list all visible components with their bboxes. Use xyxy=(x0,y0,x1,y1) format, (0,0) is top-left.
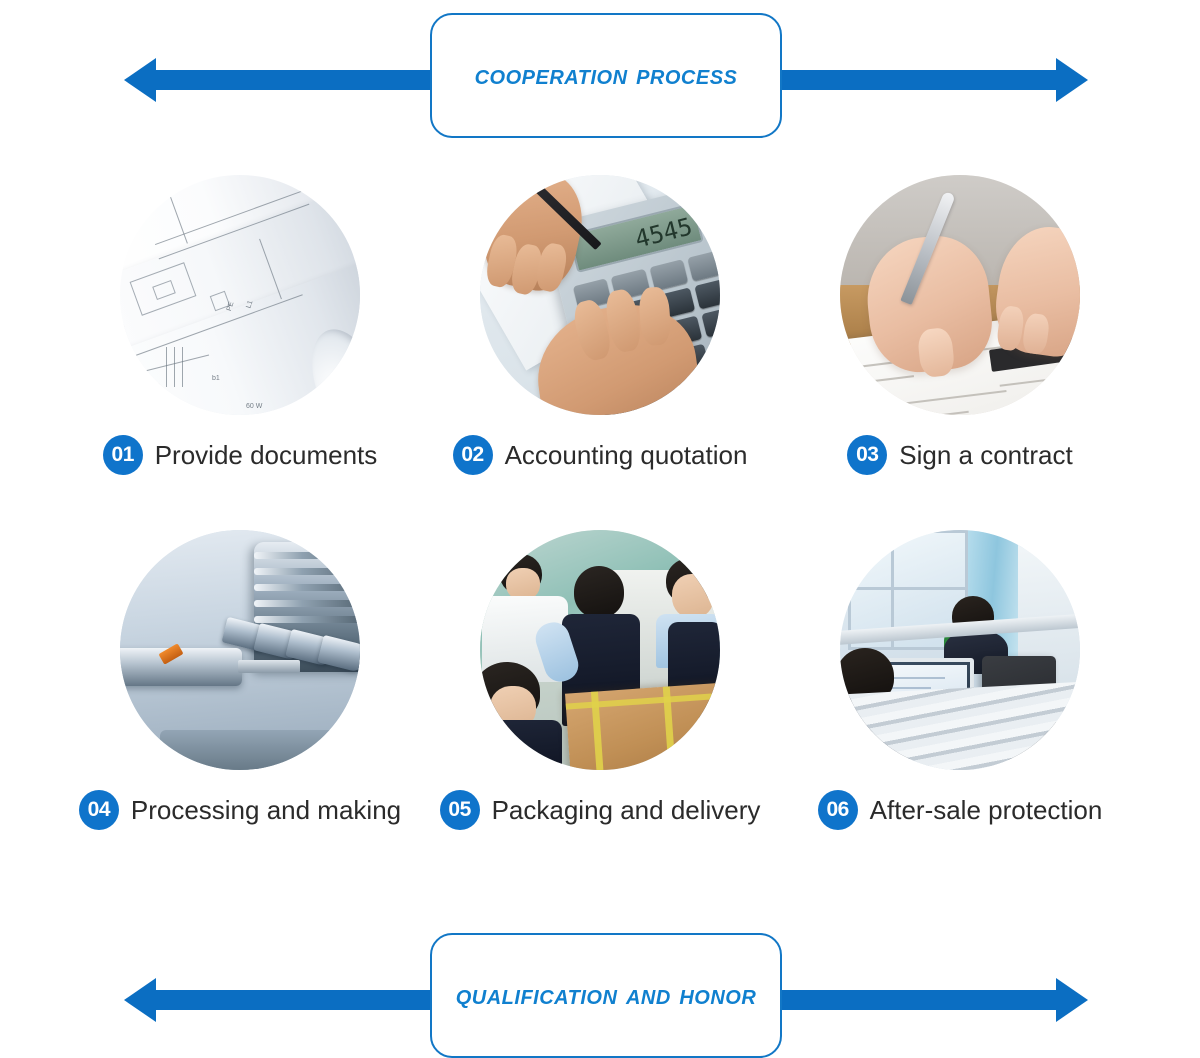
step-badge-01: 01 xyxy=(103,435,143,475)
step-badge-03: 03 xyxy=(847,435,887,475)
step-caption-05: 05 Packaging and delivery xyxy=(400,786,800,834)
banner-title-box-top: Cooperation process xyxy=(430,13,782,138)
step-caption-01: 01 Provide documents xyxy=(40,431,440,479)
process-step-grid: PE L1 b1 60 W 01 Provide documents xyxy=(0,175,1200,885)
step-caption-04: 04 Processing and making xyxy=(40,786,440,834)
arrow-left-bar xyxy=(152,70,444,90)
step-badge-06: 06 xyxy=(818,790,858,830)
arrow-left-bar xyxy=(152,990,444,1010)
banner-title-top: Cooperation process xyxy=(475,59,738,92)
step-image-packaging xyxy=(480,530,720,770)
step-card-03[interactable]: 03 Sign a contract xyxy=(760,175,1160,479)
step-label-01: Provide documents xyxy=(155,440,378,471)
arrow-right-icon xyxy=(1056,58,1088,102)
step-image-office-support xyxy=(840,530,1080,770)
step-card-01[interactable]: PE L1 b1 60 W 01 Provide documents xyxy=(40,175,440,479)
step-photo-wrap-04 xyxy=(40,530,440,770)
step-badge-04: 04 xyxy=(79,790,119,830)
step-image-cnc-machining xyxy=(120,530,360,770)
step-badge-02: 02 xyxy=(453,435,493,475)
step-photo-wrap-03 xyxy=(760,175,1160,415)
step-label-02: Accounting quotation xyxy=(505,440,748,471)
banner-qualification-and-honor: Qualification and honor xyxy=(0,928,1200,1058)
banner-title-bottom: Qualification and honor xyxy=(456,979,757,1012)
step-card-06[interactable]: 06 After-sale protection xyxy=(760,530,1160,834)
banner-cooperation-process: Cooperation process xyxy=(0,8,1200,138)
banner-title-box-bottom: Qualification and honor xyxy=(430,933,782,1058)
step-label-05: Packaging and delivery xyxy=(492,795,761,826)
step-image-blueprints: PE L1 b1 60 W xyxy=(120,175,360,415)
arrow-right-bar xyxy=(770,990,1058,1010)
step-photo-wrap-01: PE L1 b1 60 W xyxy=(40,175,440,415)
step-image-calculator: 4545 xyxy=(480,175,720,415)
step-label-04: Processing and making xyxy=(131,795,401,826)
step-photo-wrap-02: 4545 xyxy=(400,175,800,415)
step-image-signing-contract xyxy=(840,175,1080,415)
step-row-2: 04 Processing and making xyxy=(0,530,1200,885)
step-photo-wrap-05 xyxy=(400,530,800,770)
step-caption-03: 03 Sign a contract xyxy=(760,431,1160,479)
step-badge-05: 05 xyxy=(440,790,480,830)
step-photo-wrap-06 xyxy=(760,530,1160,770)
step-card-05[interactable]: 05 Packaging and delivery xyxy=(400,530,800,834)
arrow-right-icon xyxy=(1056,978,1088,1022)
step-card-02[interactable]: 4545 xyxy=(400,175,800,479)
arrow-right-bar xyxy=(770,70,1058,90)
step-label-03: Sign a contract xyxy=(899,440,1072,471)
step-label-06: After-sale protection xyxy=(870,795,1103,826)
step-caption-06: 06 After-sale protection xyxy=(760,786,1160,834)
step-caption-02: 02 Accounting quotation xyxy=(400,431,800,479)
step-row-1: PE L1 b1 60 W 01 Provide documents xyxy=(0,175,1200,530)
step-card-04[interactable]: 04 Processing and making xyxy=(40,530,440,834)
